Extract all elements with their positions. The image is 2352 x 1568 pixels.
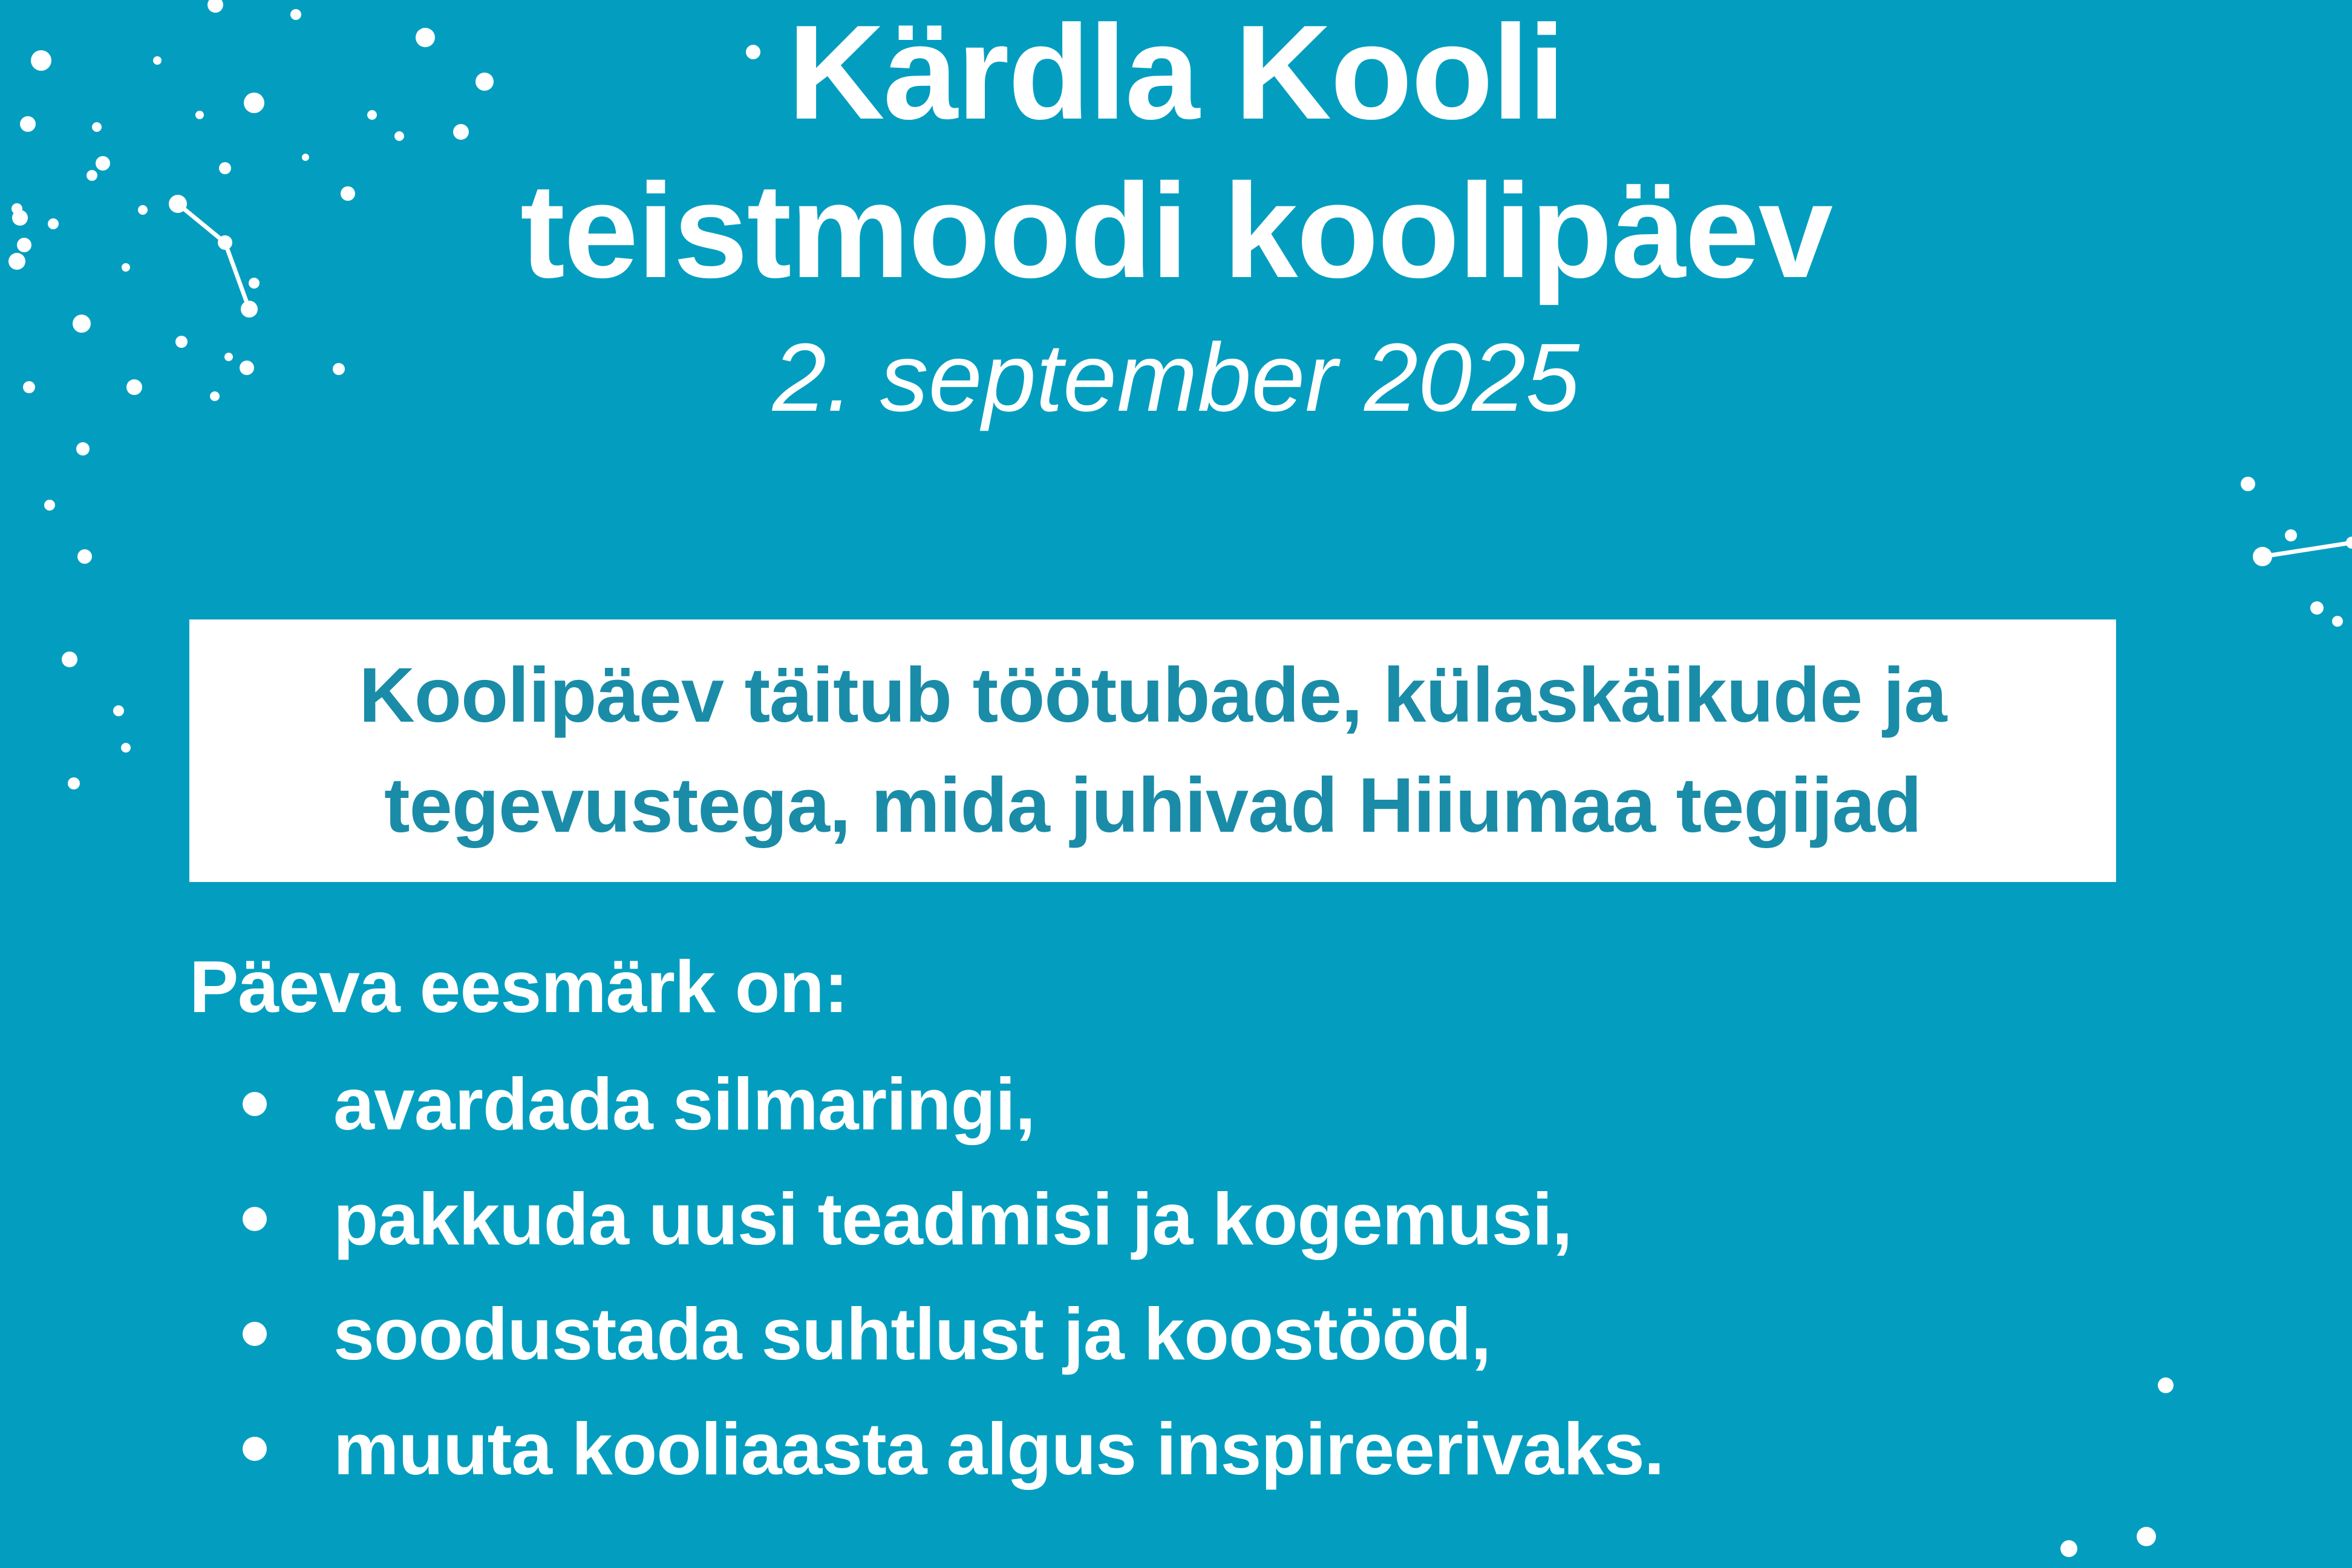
goal-item-label: soodustada suhtlust ja koostööd, — [333, 1297, 1491, 1371]
bullet-dot-icon — [243, 1437, 267, 1461]
bullet-dot-icon — [243, 1207, 267, 1231]
goals-section: Päeva eesmärk on: avardada silmaringi,pa… — [189, 950, 2246, 1527]
bullet-dot-icon — [243, 1322, 267, 1346]
goal-list-item: muuta kooliaasta algus inspireerivaks. — [189, 1412, 2246, 1486]
goals-heading: Päeva eesmärk on: — [189, 950, 2246, 1024]
highlight-line-2: tegevustega, mida juhivad Hiiumaa tegija… — [384, 751, 1921, 861]
event-date-subtitle: 2. september 2025 — [0, 317, 2352, 438]
goal-list-item: avardada silmaringi, — [189, 1067, 2246, 1141]
highlight-line-1: Koolipäev täitub töötubade, külaskäikude… — [359, 641, 1946, 751]
highlight-callout-box: Koolipäev täitub töötubade, külaskäikude… — [189, 619, 2116, 882]
title-line-2: teistmoodi koolipäev — [0, 152, 2352, 311]
poster-content: Kärdla Kooli teistmoodi koolipäev 2. sep… — [0, 0, 2352, 1568]
goal-list-item: pakkuda uusi teadmisi ja kogemusi, — [189, 1182, 2246, 1256]
goal-item-label: avardada silmaringi, — [333, 1067, 1035, 1141]
poster-root: Kärdla Kooli teistmoodi koolipäev 2. sep… — [0, 0, 2352, 1568]
goals-list: avardada silmaringi,pakkuda uusi teadmis… — [189, 1067, 2246, 1486]
title-line-1: Kärdla Kooli — [0, 0, 2352, 152]
bullet-dot-icon — [243, 1092, 267, 1116]
goal-item-label: pakkuda uusi teadmisi ja kogemusi, — [333, 1182, 1572, 1256]
goal-list-item: soodustada suhtlust ja koostööd, — [189, 1297, 2246, 1371]
poster-header: Kärdla Kooli teistmoodi koolipäev 2. sep… — [0, 0, 2352, 438]
goal-item-label: muuta kooliaasta algus inspireerivaks. — [333, 1412, 1664, 1486]
